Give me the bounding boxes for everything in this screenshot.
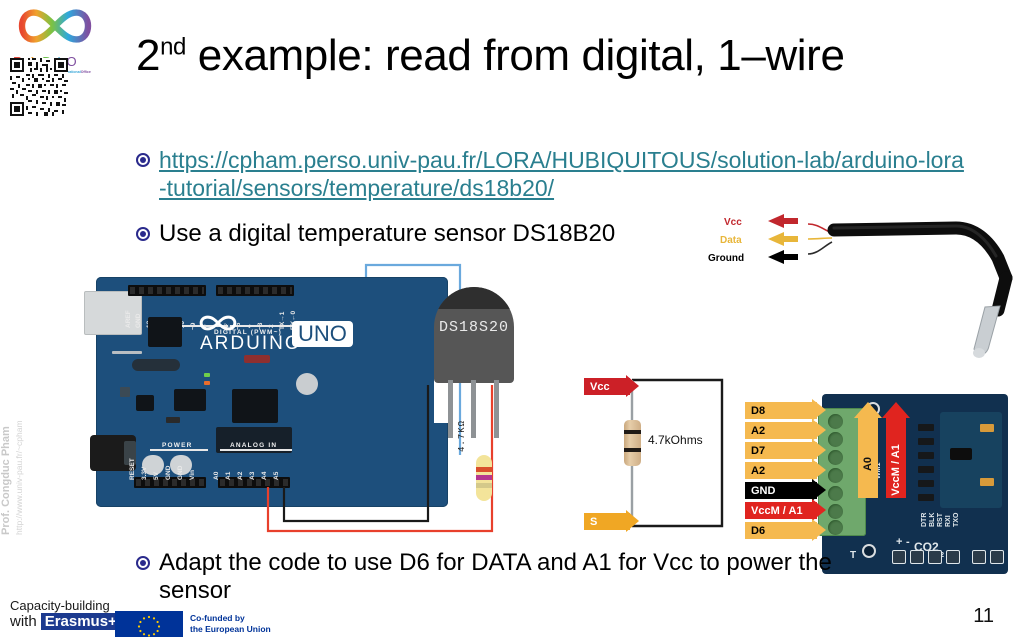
smd-part bbox=[120, 387, 130, 397]
author-url: http://www.univ-pau.fr/~cpham bbox=[14, 420, 24, 535]
resistor-band bbox=[476, 467, 492, 472]
power-section-label: POWER bbox=[162, 442, 193, 449]
pin-label-a2: A2 bbox=[237, 472, 244, 480]
pin-tag-d8: D8 bbox=[745, 402, 817, 419]
solder-pad bbox=[910, 550, 924, 564]
tag-arrow-head bbox=[812, 519, 826, 541]
mcu-chip bbox=[148, 317, 182, 347]
probe-arrows bbox=[706, 206, 1024, 366]
schematic-tag-s: S bbox=[584, 513, 630, 530]
pin-label-gnd1: GND bbox=[165, 466, 172, 480]
silkscreen-plus: + bbox=[896, 536, 902, 548]
erasmus-brand: Erasmus+ bbox=[41, 613, 121, 630]
pin-tag-gnd: GND bbox=[745, 482, 817, 499]
shield-pin-tag-group: D8 A2 D7 A2 GND VccM / A1 D6 bbox=[745, 400, 855, 540]
resistor-band bbox=[476, 483, 492, 488]
bullet-dot-icon bbox=[136, 153, 150, 167]
silkscreen-dtr: DTR bbox=[921, 513, 928, 527]
capacitor bbox=[296, 373, 318, 395]
ds18s20-package: DS18S20 bbox=[434, 287, 514, 383]
pin-label-a5: A5 bbox=[273, 472, 280, 480]
qr-code-icon bbox=[10, 58, 68, 116]
solder-pad bbox=[990, 550, 1004, 564]
eu-text-line2: the European Union bbox=[190, 624, 271, 635]
digital-header-right bbox=[216, 285, 294, 296]
pin-tag-label: A2 bbox=[751, 425, 765, 437]
mounting-hole bbox=[862, 544, 876, 558]
eu-funding-text: Co-funded by the European Union bbox=[190, 613, 271, 635]
pin-tag-a2-2: A2 bbox=[745, 462, 817, 479]
resistor-band bbox=[624, 430, 641, 434]
eu-text-line1: Co-funded by bbox=[190, 613, 271, 624]
fritzing-resistor bbox=[476, 455, 492, 501]
schematic-resistor-label: 4.7kOhms bbox=[648, 433, 703, 447]
silkscreen-blk: BLK bbox=[929, 513, 936, 527]
smd-part bbox=[244, 355, 270, 363]
atmega-chip bbox=[232, 389, 278, 423]
tag-arrow-head bbox=[812, 479, 826, 501]
silkscreen-t: T bbox=[850, 550, 856, 561]
vertical-arrow-a0: A0 bbox=[858, 402, 878, 498]
pin-label-a0: A0 bbox=[213, 472, 220, 480]
analog-section-line bbox=[220, 449, 292, 451]
tag-arrow-head bbox=[812, 459, 826, 481]
smd-part bbox=[950, 448, 972, 460]
infinity-logo-icon bbox=[12, 4, 98, 48]
pin-tag-label: D7 bbox=[751, 445, 765, 457]
title-superscript: nd bbox=[160, 33, 186, 60]
led-indicator bbox=[204, 381, 210, 385]
silkscreen-rst: RST bbox=[937, 513, 944, 527]
analog-section-label: ANALOG IN bbox=[230, 442, 277, 449]
arrow-tip bbox=[882, 402, 910, 418]
fritzing-resistor-label: 4.7KΩ bbox=[457, 420, 467, 452]
header-pin bbox=[918, 424, 934, 431]
vertical-arrow-vccm: VccM / A1 bbox=[886, 402, 906, 498]
bullet-dot-icon bbox=[136, 227, 150, 241]
pin-label-vin: Vin bbox=[189, 470, 196, 480]
pin-tag-label: D8 bbox=[751, 405, 765, 417]
solder-pad bbox=[928, 550, 942, 564]
resistor-band bbox=[624, 448, 641, 452]
title-post: example: read from digital, 1–wire bbox=[186, 31, 845, 80]
pin-label-gnd: GND bbox=[135, 314, 142, 328]
schematic-resistor bbox=[624, 420, 641, 466]
title-pre: 2 bbox=[136, 31, 160, 80]
smd-part bbox=[980, 424, 994, 432]
solder-pad bbox=[892, 550, 906, 564]
pin-label-5v: 5V bbox=[153, 472, 160, 480]
tutorial-link[interactable]: https://cpham.perso.univ-pau.fr/LORA/HUB… bbox=[159, 146, 966, 202]
tag-arrow-head bbox=[626, 375, 639, 397]
pin-label-reset: RESET bbox=[129, 458, 136, 480]
pin-tag-label: D6 bbox=[751, 525, 765, 537]
regulator bbox=[136, 395, 154, 411]
pin-tag-a2-1: A2 bbox=[745, 422, 817, 439]
pin-label-3v3: 3.3V bbox=[141, 467, 148, 480]
pin-tag-d6: D6 bbox=[745, 522, 817, 539]
pin-tag-label: A2 bbox=[751, 465, 765, 477]
usb-port bbox=[84, 291, 142, 335]
resistor-band bbox=[476, 475, 492, 480]
pin-tag-vccm-a1: VccM / A1 bbox=[745, 502, 817, 519]
digital-header-left bbox=[128, 285, 206, 296]
bullet-adapt-row: Adapt the code to use D6 for DATA and A1… bbox=[136, 549, 836, 606]
header-pin bbox=[918, 466, 934, 473]
arduino-model-badge: UNO bbox=[292, 321, 353, 347]
bullet-dot-icon bbox=[136, 556, 150, 570]
tag-arrow-head bbox=[812, 399, 826, 421]
slide-title: 2nd example: read from digital, 1–wire bbox=[136, 31, 976, 81]
silkscreen-rxi: RXI bbox=[945, 515, 952, 527]
vertical-arrow-label-a0: A0 bbox=[862, 438, 874, 490]
tag-arrow-head bbox=[626, 510, 639, 532]
pin-tag-label: VccM / A1 bbox=[751, 505, 803, 517]
schematic-tag-vcc: Vcc bbox=[584, 378, 630, 395]
eu-flag-icon bbox=[115, 611, 183, 637]
pin-label-a1: A1 bbox=[225, 472, 232, 480]
solder-pad bbox=[972, 550, 986, 564]
header-pin bbox=[918, 438, 934, 445]
pin-label-a4: A4 bbox=[261, 472, 268, 480]
smd-part bbox=[980, 478, 994, 486]
author-sidebar: Prof. Congduc Pham http://www.univ-pau.f… bbox=[0, 335, 24, 535]
arduino-pcb: AREF GND 13 12 ~11 ~10 ~9 8 7 ~6 ~5 4 ~3… bbox=[96, 277, 448, 507]
eu-stars bbox=[129, 611, 169, 637]
adapt-bullet-text: Adapt the code to use D6 for DATA and A1… bbox=[159, 549, 836, 606]
header-pin bbox=[918, 494, 934, 501]
ds18b20-probe-photo: Vcc Data Ground bbox=[706, 206, 1024, 366]
tag-arrow-head bbox=[812, 439, 826, 461]
tag-arrow-head bbox=[812, 499, 826, 521]
header-pin bbox=[918, 480, 934, 487]
author-name: Prof. Congduc Pham bbox=[0, 426, 12, 535]
arduino-brand-label: ARDUINO bbox=[200, 333, 302, 355]
pin-label-a3: A3 bbox=[249, 472, 256, 480]
solder-pad bbox=[946, 550, 960, 564]
tag-arrow-head bbox=[812, 419, 826, 441]
bullet-link-row: https://cpham.perso.univ-pau.fr/LORA/HUB… bbox=[136, 146, 966, 202]
ds18s20-label: DS18S20 bbox=[434, 319, 514, 336]
sensor-leg bbox=[494, 380, 499, 438]
tag-label: Vcc bbox=[590, 381, 610, 393]
sensor-leg bbox=[448, 380, 453, 438]
footer-with: with bbox=[10, 613, 37, 630]
sensor-bullet-text: Use a digital temperature sensor DS18B20 bbox=[159, 220, 615, 248]
crystal bbox=[132, 359, 180, 371]
power-section-line bbox=[150, 449, 208, 451]
pin-label-aref: AREF bbox=[125, 310, 132, 328]
sensor-leg bbox=[471, 380, 476, 438]
vertical-arrow-label-vccm: VccM / A1 bbox=[890, 444, 902, 496]
page-number: 11 bbox=[973, 605, 994, 628]
pin-label-gnd2: GND bbox=[177, 466, 184, 480]
smd-part bbox=[112, 351, 142, 354]
header-pin bbox=[918, 452, 934, 459]
silkscreen-txo: TXO bbox=[953, 513, 960, 527]
silkscreen-minus: - bbox=[906, 536, 910, 548]
bullet-sensor-row: Use a digital temperature sensor DS18B20 bbox=[136, 220, 615, 248]
pin-tag-label: GND bbox=[751, 485, 775, 497]
pin-label-1: TX→1 bbox=[279, 312, 286, 330]
arrow-tip bbox=[854, 402, 882, 418]
ic-small bbox=[174, 389, 206, 411]
smd-part bbox=[166, 417, 180, 423]
led-indicator bbox=[204, 373, 210, 377]
tag-label: S bbox=[590, 516, 597, 528]
arduino-infinity-icon bbox=[196, 313, 240, 333]
pin-tag-d7: D7 bbox=[745, 442, 817, 459]
